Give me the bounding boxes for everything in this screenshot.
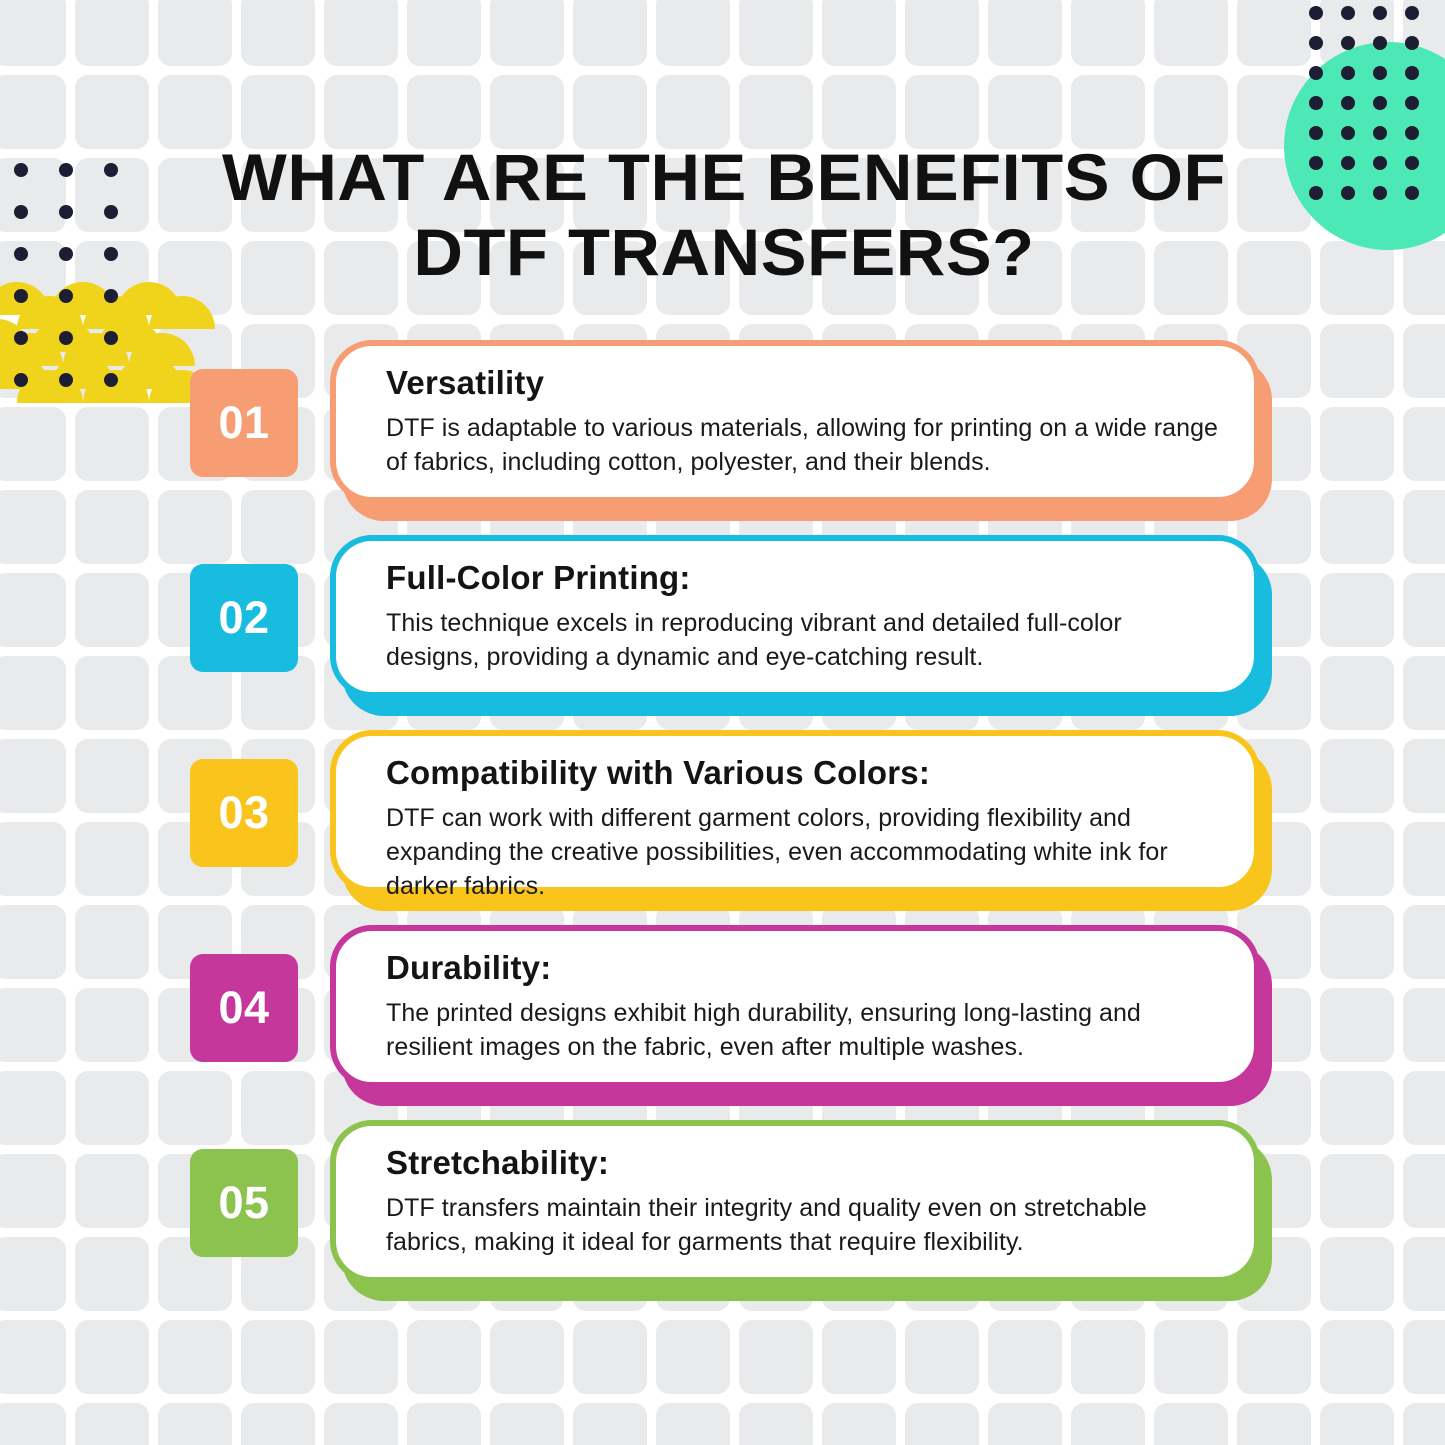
grid-cell [905,0,979,66]
grid-cell [75,1403,149,1445]
infographic-poster: WHAT ARE THE BENEFITS OF DTF TRANSFERS? … [0,0,1445,1445]
grid-cell [988,75,1062,149]
grid-cell [0,0,66,66]
decorative-dot [1341,96,1355,110]
grid-cell [407,1320,481,1394]
benefit-heading: Durability: [386,949,1218,987]
benefit-body: This technique excels in reproducing vib… [386,606,1218,674]
grid-cell [407,75,481,149]
grid-cell [0,1403,66,1445]
grid-cell [490,0,564,66]
decorative-dot [1309,96,1323,110]
decorative-dot [14,247,28,261]
decorative-dot [1341,126,1355,140]
benefit-number-label: 02 [218,592,269,644]
grid-cell [0,1320,66,1394]
dot-grid-top-left [14,163,124,363]
grid-cell [324,1320,398,1394]
grid-cell [490,75,564,149]
card-surface: VersatilityDTF is adaptable to various m… [330,340,1260,503]
grid-cell [739,75,813,149]
grid-cell [1403,241,1445,315]
grid-cell [407,1403,481,1445]
grid-cell [656,1320,730,1394]
benefit-number-badge[interactable]: 05 [190,1149,298,1257]
benefit-card[interactable]: Full-Color Printing:This technique excel… [330,535,1260,710]
decorative-dot [1341,6,1355,20]
grid-cell [988,0,1062,66]
grid-cell [1237,0,1311,66]
decorative-dot [1373,6,1387,20]
decorative-dot [1373,186,1387,200]
decorative-dot [59,205,73,219]
benefit-row: 01VersatilityDTF is adaptable to various… [0,340,1445,535]
card-surface: Compatibility with Various Colors:DTF ca… [330,730,1260,893]
benefit-row: 03Compatibility with Various Colors:DTF … [0,730,1445,925]
decorative-dot [14,163,28,177]
grid-cell [1154,0,1228,66]
grid-cell [988,1320,1062,1394]
grid-cell [490,1403,564,1445]
grid-cell [573,1403,647,1445]
benefits-list: 01VersatilityDTF is adaptable to various… [0,340,1445,1315]
grid-cell [573,75,647,149]
decorative-dot [1373,36,1387,50]
benefit-number-label: 03 [218,787,269,839]
benefit-heading: Stretchability: [386,1144,1218,1182]
grid-cell [822,0,896,66]
decorative-dot [59,163,73,177]
decorative-dot [14,289,28,303]
grid-cell [739,1403,813,1445]
decorative-dot [1405,186,1419,200]
grid-cell [905,75,979,149]
grid-cell [407,0,481,66]
grid-cell [1071,75,1145,149]
benefit-card[interactable]: Durability:The printed designs exhibit h… [330,925,1260,1100]
benefit-card[interactable]: Compatibility with Various Colors:DTF ca… [330,730,1260,905]
grid-cell [241,1403,315,1445]
decorative-dot [1405,126,1419,140]
grid-cell [75,1320,149,1394]
grid-cell [1071,1320,1145,1394]
decorative-dot [1309,126,1323,140]
grid-cell [656,0,730,66]
grid-cell [1071,1403,1145,1445]
decorative-dot [1341,186,1355,200]
benefit-body: DTF can work with different garment colo… [386,801,1218,903]
grid-cell [0,75,66,149]
benefit-row: 02Full-Color Printing:This technique exc… [0,535,1445,730]
grid-cell [573,1320,647,1394]
grid-cell [1154,1320,1228,1394]
decorative-dot [104,289,118,303]
grid-cell [324,0,398,66]
benefit-number-badge[interactable]: 04 [190,954,298,1062]
decorative-dot [104,205,118,219]
decorative-dot [1373,66,1387,80]
grid-cell [905,1403,979,1445]
decorative-dot [1341,66,1355,80]
decorative-dot [104,163,118,177]
grid-cell [241,1320,315,1394]
grid-cell [656,1403,730,1445]
grid-cell [241,0,315,66]
grid-cell [324,1403,398,1445]
decorative-dot [1405,96,1419,110]
grid-cell [1403,1403,1445,1445]
decorative-dot [1373,126,1387,140]
benefit-number-label: 01 [218,397,269,449]
benefit-row: 05Stretchability:DTF transfers maintain … [0,1120,1445,1315]
page-title: WHAT ARE THE BENEFITS OF DTF TRANSFERS? [163,140,1284,290]
grid-cell [158,1403,232,1445]
card-surface: Stretchability:DTF transfers maintain th… [330,1120,1260,1283]
grid-cell [739,0,813,66]
grid-cell [158,0,232,66]
benefit-body: The printed designs exhibit high durabil… [386,996,1218,1064]
decorative-dot [104,247,118,261]
grid-cell [75,75,149,149]
decorative-dot [59,289,73,303]
benefit-heading: Full-Color Printing: [386,559,1218,597]
grid-cell [324,75,398,149]
grid-cell [656,75,730,149]
grid-cell [822,1320,896,1394]
benefit-number-badge[interactable]: 03 [190,759,298,867]
decorative-dot [1405,36,1419,50]
decorative-dot [1405,156,1419,170]
grid-cell [241,75,315,149]
benefit-number-label: 05 [218,1177,269,1229]
dot-grid-top-right [1309,6,1439,186]
benefit-heading: Compatibility with Various Colors: [386,754,1218,792]
decorative-dot [1309,36,1323,50]
decorative-dot [1341,36,1355,50]
grid-cell [1320,241,1394,315]
grid-cell [1071,0,1145,66]
decorative-dot [1309,156,1323,170]
decorative-dot [1309,6,1323,20]
benefit-number-badge[interactable]: 01 [190,369,298,477]
decorative-dot [1405,6,1419,20]
grid-cell [1154,75,1228,149]
grid-cell [822,75,896,149]
card-surface: Durability:The printed designs exhibit h… [330,925,1260,1088]
benefit-body: DTF transfers maintain their integrity a… [386,1191,1218,1259]
grid-cell [1320,1320,1394,1394]
benefit-body: DTF is adaptable to various materials, a… [386,411,1218,479]
grid-cell [822,1403,896,1445]
grid-cell [158,1320,232,1394]
benefit-row: 04Durability:The printed designs exhibit… [0,925,1445,1120]
benefit-card[interactable]: VersatilityDTF is adaptable to various m… [330,340,1260,515]
grid-cell [1320,1403,1394,1445]
decorative-dot [1309,66,1323,80]
grid-cell [1154,1403,1228,1445]
decorative-dot [1373,156,1387,170]
decorative-dot [59,247,73,261]
decorative-dot [1309,186,1323,200]
grid-cell [739,1320,813,1394]
grid-cell [988,1403,1062,1445]
benefit-number-badge[interactable]: 02 [190,564,298,672]
decorative-dot [1341,156,1355,170]
grid-cell [905,1320,979,1394]
grid-cell [75,0,149,66]
grid-cell [1237,1320,1311,1394]
decorative-dot [14,205,28,219]
grid-cell [158,75,232,149]
card-surface: Full-Color Printing:This technique excel… [330,535,1260,698]
grid-cell [1237,1403,1311,1445]
grid-cell [1403,1320,1445,1394]
benefit-heading: Versatility [386,364,1218,402]
grid-cell [573,0,647,66]
benefit-card[interactable]: Stretchability:DTF transfers maintain th… [330,1120,1260,1295]
decorative-dot [1373,96,1387,110]
benefit-number-label: 04 [218,982,269,1034]
grid-cell [490,1320,564,1394]
decorative-dot [1405,66,1419,80]
